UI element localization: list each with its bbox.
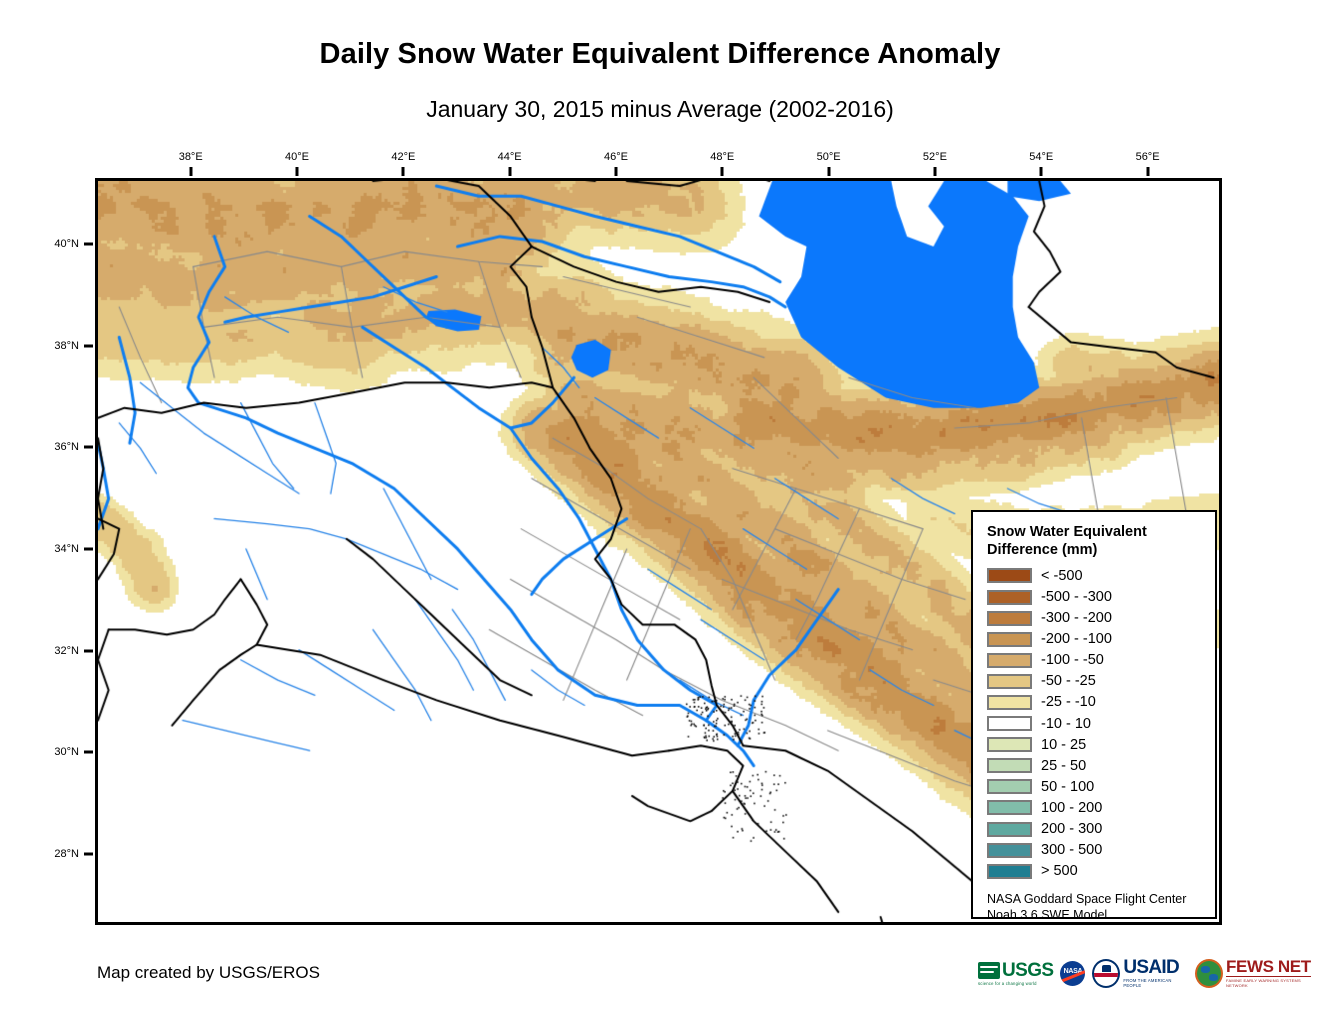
lat-tick — [84, 852, 93, 855]
usgs-wordmark: USGS — [1002, 961, 1053, 980]
lon-tick — [402, 167, 405, 176]
legend-swatch — [987, 758, 1032, 773]
legend-label: 10 - 25 — [1041, 737, 1086, 753]
usgs-logo: USGS science for a changing world — [978, 956, 1053, 990]
legend-entry: 100 - 200 — [987, 797, 1203, 818]
legend-entry: -50 - -25 — [987, 671, 1203, 692]
legend-entry: > 500 — [987, 861, 1203, 882]
lon-label: 44°E — [498, 151, 522, 163]
nasa-logo: NASA — [1060, 956, 1085, 990]
lon-tick — [721, 167, 724, 176]
legend-label: -25 - -10 — [1041, 694, 1096, 710]
legend-label: < -500 — [1041, 568, 1083, 584]
usgs-mark-icon — [978, 962, 1000, 979]
lat-label: 34°N — [33, 543, 79, 555]
legend-swatch — [987, 674, 1032, 689]
usaid-seal-icon — [1092, 959, 1120, 988]
legend-label: 100 - 200 — [1041, 800, 1102, 816]
legend-label: -100 - -50 — [1041, 652, 1104, 668]
lon-label: 52°E — [923, 151, 947, 163]
logo-strip: USGS science for a changing world NASA U… — [978, 955, 1320, 991]
legend-source-note: NASA Goddard Space Flight Center Noah 3.… — [987, 891, 1203, 924]
lat-tick — [84, 344, 93, 347]
lon-label: 48°E — [710, 151, 734, 163]
legend-entry: -10 - 10 — [987, 713, 1203, 734]
legend-label: 25 - 50 — [1041, 758, 1086, 774]
lon-tick — [933, 167, 936, 176]
lat-label: 36°N — [33, 441, 79, 453]
lat-tick — [84, 243, 93, 246]
lon-tick — [508, 167, 511, 176]
legend-swatch — [987, 695, 1032, 710]
legend-entry: 10 - 25 — [987, 734, 1203, 755]
legend-entry: 50 - 100 — [987, 776, 1203, 797]
lon-tick — [296, 167, 299, 176]
legend-swatch — [987, 632, 1032, 647]
lon-label: 56°E — [1136, 151, 1160, 163]
legend-swatch — [987, 716, 1032, 731]
lon-tick — [189, 167, 192, 176]
legend-swatch — [987, 653, 1032, 668]
legend-swatch — [987, 822, 1032, 837]
usaid-logo: USAID FROM THE AMERICAN PEOPLE — [1092, 956, 1188, 990]
legend-swatch — [987, 737, 1032, 752]
legend-entry: -100 - -50 — [987, 650, 1203, 671]
lon-label: 40°E — [285, 151, 309, 163]
legend-entry: -500 - -300 — [987, 586, 1203, 607]
legend-swatch — [987, 611, 1032, 626]
lat-label: 30°N — [33, 746, 79, 758]
legend-swatch — [987, 864, 1032, 879]
legend-label: -200 - -100 — [1041, 631, 1112, 647]
legend-label: 300 - 500 — [1041, 842, 1102, 858]
legend-entry: -300 - -200 — [987, 608, 1203, 629]
legend-label: -10 - 10 — [1041, 716, 1091, 732]
usaid-tagline: FROM THE AMERICAN PEOPLE — [1123, 978, 1188, 988]
legend-label: 200 - 300 — [1041, 821, 1102, 837]
fewsnet-wordmark: FEWS NET — [1226, 958, 1311, 977]
fewsnet-tagline: FAMINE EARLY WARNING SYSTEMS NETWORK — [1226, 978, 1320, 988]
lon-tick — [827, 167, 830, 176]
lat-tick — [84, 547, 93, 550]
legend-label: -500 - -300 — [1041, 589, 1112, 605]
legend-swatch — [987, 568, 1032, 583]
legend-entry: 300 - 500 — [987, 840, 1203, 861]
lat-tick — [84, 751, 93, 754]
lon-tick — [1146, 167, 1149, 176]
legend-swatch — [987, 800, 1032, 815]
fewsnet-logo: FEWS NET FAMINE EARLY WARNING SYSTEMS NE… — [1195, 956, 1320, 990]
legend-label: > 500 — [1041, 863, 1078, 879]
legend-label: -50 - -25 — [1041, 673, 1096, 689]
lat-tick — [84, 649, 93, 652]
lon-label: 38°E — [179, 151, 203, 163]
page-title: Daily Snow Water Equivalent Difference A… — [0, 38, 1320, 71]
legend-swatch — [987, 590, 1032, 605]
legend-label: 50 - 100 — [1041, 779, 1094, 795]
lat-tick — [84, 446, 93, 449]
lon-label: 46°E — [604, 151, 628, 163]
legend-entry: -25 - -10 — [987, 692, 1203, 713]
lon-label: 50°E — [817, 151, 841, 163]
map-credit: Map created by USGS/EROS — [97, 963, 320, 983]
legend-entries: < -500-500 - -300-300 - -200-200 - -100-… — [987, 565, 1203, 881]
legend-entry: -200 - -100 — [987, 629, 1203, 650]
usgs-tagline: science for a changing world — [978, 981, 1037, 986]
lat-label: 32°N — [33, 645, 79, 657]
nasa-meatball-icon: NASA — [1060, 961, 1085, 986]
globe-icon — [1195, 959, 1223, 988]
legend-entry: 25 - 50 — [987, 755, 1203, 776]
lat-label: 38°N — [33, 340, 79, 352]
map-legend: Snow Water Equivalent Difference (mm) < … — [971, 510, 1217, 919]
lon-tick — [1040, 167, 1043, 176]
legend-swatch — [987, 779, 1032, 794]
legend-swatch — [987, 843, 1032, 858]
legend-entry: 200 - 300 — [987, 819, 1203, 840]
lon-label: 42°E — [391, 151, 415, 163]
legend-entry: < -500 — [987, 565, 1203, 586]
lon-label: 54°E — [1029, 151, 1053, 163]
legend-title: Snow Water Equivalent Difference (mm) — [987, 524, 1203, 559]
usaid-wordmark: USAID — [1123, 958, 1179, 977]
lat-label: 28°N — [33, 848, 79, 860]
page-subtitle: January 30, 2015 minus Average (2002-201… — [0, 96, 1320, 123]
legend-label: -300 - -200 — [1041, 610, 1112, 626]
lat-label: 40°N — [33, 238, 79, 250]
lon-tick — [614, 167, 617, 176]
